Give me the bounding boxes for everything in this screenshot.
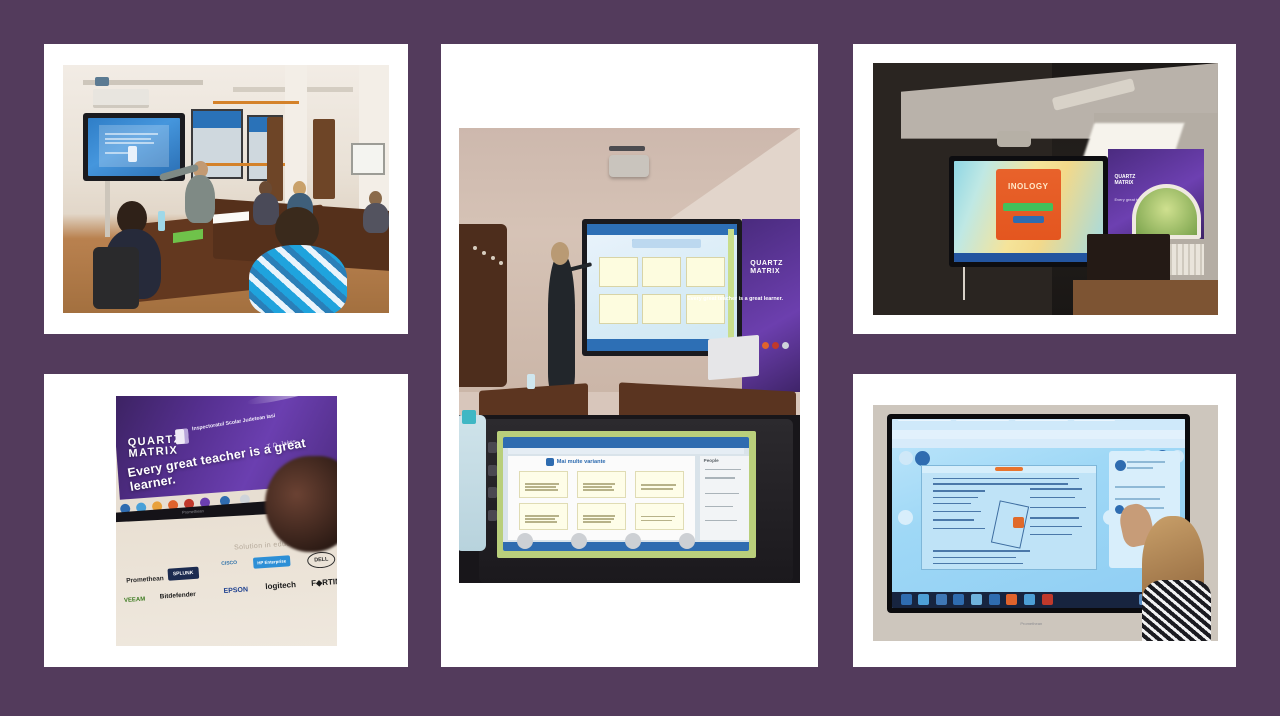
- display-cable: [105, 181, 110, 237]
- browser-address-bar[interactable]: [892, 430, 1186, 439]
- people-pane-title: People: [704, 458, 719, 463]
- photo-attic-classroom-display: INOLOGY QUARTZ MATRIX Every great teache…: [873, 63, 1218, 315]
- panel-brand-label: Promethean: [1020, 621, 1042, 626]
- document-highlight-marker: [995, 467, 1023, 471]
- photo-teacher-at-interactive-panel: Promethean: [873, 405, 1218, 641]
- taskbar-icon-explorer[interactable]: [936, 594, 947, 605]
- participant-body-3: [363, 203, 389, 233]
- logo-bitdefender: Bitdefender: [160, 591, 197, 601]
- water-bottle-foreground: [459, 415, 486, 552]
- laptop-side-button-4[interactable]: [488, 510, 497, 521]
- roll-banner-line-2: MATRIX: [750, 268, 780, 275]
- inserted-image-thumbnail: [1013, 517, 1024, 528]
- photo-classroom-training-session: [63, 65, 389, 313]
- teacher-torso: [1142, 580, 1211, 641]
- slide-tile-5[interactable]: [577, 503, 626, 530]
- shared-document: [921, 465, 1097, 570]
- logo-cisco: CISCO: [221, 560, 237, 567]
- ceiling-projector: [997, 131, 1031, 147]
- browser-tab-strip: [508, 448, 744, 455]
- school-inspectorate-crest-icon: [175, 429, 189, 445]
- wooden-floor: [1073, 280, 1218, 315]
- laptop-side-button-2[interactable]: [488, 465, 497, 476]
- logo-promethean: Promethean: [126, 575, 164, 585]
- wooden-cabinet: [459, 224, 507, 388]
- taskbar-icon-start[interactable]: [901, 594, 912, 605]
- participant-body-1: [253, 193, 279, 225]
- photo-quartz-matrix-banner: QUARTZ MATRIX Inspectoratul Scolar Judet…: [116, 396, 337, 646]
- photo-card-top-left: [44, 44, 408, 334]
- roll-banner-line-1: QUARTZ: [750, 260, 783, 267]
- chair: [93, 247, 139, 309]
- quiz-modal-title: INOLOGY: [996, 182, 1061, 191]
- quiz-answer-field[interactable]: [1003, 203, 1053, 211]
- slide-tile-4[interactable]: [519, 503, 568, 530]
- slide-tile-2[interactable]: [577, 471, 626, 498]
- laptop-side-button-3[interactable]: [488, 487, 497, 498]
- logo-veeam: VEEAM: [124, 597, 146, 604]
- wall-cable: [963, 267, 965, 300]
- logo-epson: EPSON: [223, 586, 248, 595]
- phone-mockup: [128, 146, 137, 162]
- slide-app-icon: [546, 458, 554, 466]
- taskbar-icon-recorder[interactable]: [1042, 594, 1053, 605]
- laptop-button-1[interactable]: [517, 533, 533, 549]
- photo-collage: QUARTZ MATRIX Inspectoratul Scolar Judet…: [0, 0, 1280, 716]
- laptop-bottom-controls: [507, 533, 753, 574]
- slide-tile-6[interactable]: [635, 503, 684, 530]
- ceiling-projector: [609, 155, 649, 177]
- laptop-button-4[interactable]: [679, 533, 695, 549]
- projector-mount: [609, 146, 645, 151]
- quiz-start-button[interactable]: [1013, 216, 1044, 223]
- laptop-button-2[interactable]: [571, 533, 587, 549]
- photo-card-bottom-right: Promethean: [853, 374, 1236, 667]
- logo-fortinet: F◆RTINET: [311, 576, 337, 588]
- photo-card-center: QUARTZ MATRIX Every great teacher is a g…: [441, 44, 818, 667]
- prev-slide-icon[interactable]: [898, 510, 913, 525]
- laptop-side-button-1[interactable]: [488, 442, 497, 453]
- foreground-body-right-plaid-shirt: [249, 245, 347, 313]
- presenter-head: [551, 242, 569, 265]
- taskbar-icon-media[interactable]: [1006, 594, 1017, 605]
- logo-hp-enterprise: HP Enterprise: [253, 555, 291, 569]
- banner-swoosh-graphic: [246, 396, 334, 408]
- slide-title-bar: [632, 239, 701, 248]
- wall-banner-brand: QUARTZ MATRIX: [1115, 174, 1136, 186]
- whiteboard: [351, 143, 385, 175]
- projector-icon: [95, 77, 109, 86]
- interactive-display: INOLOGY: [949, 156, 1108, 267]
- whiteboard-window-header: [587, 224, 737, 235]
- browser-bookmarks-bar: [892, 439, 1186, 447]
- roll-banner-brand: QUARTZ MATRIX: [750, 260, 783, 276]
- presenter-laptop: [708, 335, 759, 380]
- display-taskbar: [954, 253, 1103, 262]
- water-bottle: [158, 211, 165, 231]
- taskbar-icon-files[interactable]: [971, 594, 982, 605]
- photo-presenter-and-laptop: QUARTZ MATRIX Every great teacher is a g…: [459, 128, 800, 583]
- slide-tile-1[interactable]: [519, 471, 568, 498]
- presenter-body: [548, 255, 575, 392]
- photo-card-bottom-left: QUARTZ MATRIX Inspectoratul Scolar Judet…: [44, 374, 408, 667]
- slide-canvas: Mai multe variante: [508, 456, 695, 540]
- taskbar-icon-browser[interactable]: [953, 594, 964, 605]
- participant-avatar: [1115, 460, 1126, 471]
- nav-back-icon[interactable]: [899, 451, 913, 465]
- logo-dell: DELL: [307, 551, 336, 569]
- people-pane: People: [700, 456, 749, 540]
- quiz-modal: INOLOGY: [996, 169, 1061, 240]
- logo-splunk: SPLUNK: [167, 567, 198, 581]
- slide-title: Mai multe variante: [557, 459, 606, 465]
- taskbar-icon-search[interactable]: [918, 594, 929, 605]
- roll-banner-tagline: Every great teacher is a great learner.: [687, 296, 783, 302]
- bottle-cap: [462, 410, 476, 424]
- air-conditioner: [93, 89, 149, 108]
- browser-tab-bar: [892, 419, 1186, 429]
- taskbar-icon-mail[interactable]: [989, 594, 1000, 605]
- laptop-button-3[interactable]: [625, 533, 641, 549]
- lecturer-body: [185, 175, 215, 223]
- partner-org-label: Inspectoratul Scolar Judetean Iasi: [192, 411, 288, 433]
- desk-bottle: [527, 374, 535, 389]
- wall-banner-line-2: MATRIX: [1115, 180, 1134, 186]
- taskbar-icon-notes[interactable]: [1024, 594, 1035, 605]
- logo-logitech: logitech: [265, 580, 296, 591]
- slide-tile-3[interactable]: [635, 471, 684, 498]
- browser-title-bar: [503, 437, 749, 447]
- interactive-whiteboard: [582, 219, 742, 356]
- photo-card-top-right: INOLOGY QUARTZ MATRIX Every great teache…: [853, 44, 1236, 334]
- whiteboard-side-panel: [728, 229, 734, 345]
